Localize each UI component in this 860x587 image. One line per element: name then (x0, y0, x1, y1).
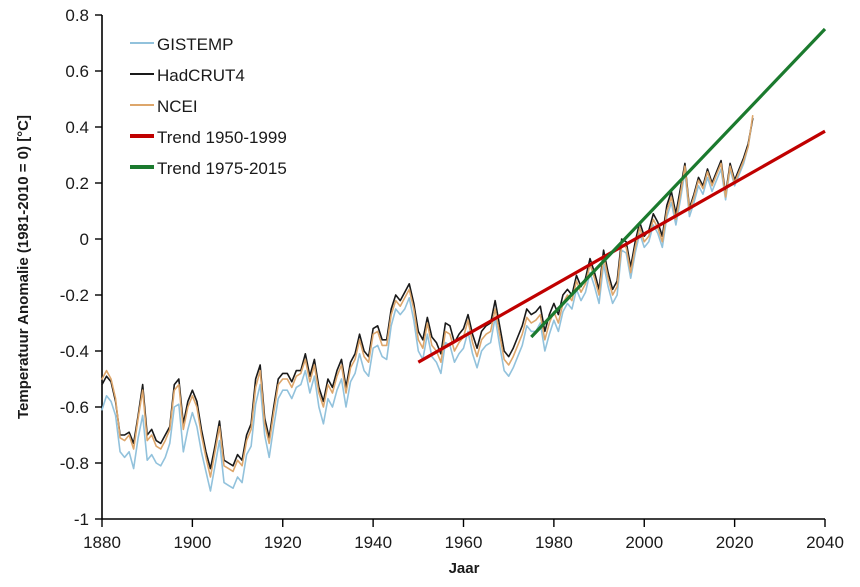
chart-background (0, 0, 860, 587)
x-axis-title: Jaar (449, 560, 480, 577)
x-tick-label: 1960 (445, 533, 483, 552)
y-tick-label: -0.4 (60, 342, 89, 361)
chart-container: 0.80.60.40.20-0.2-0.4-0.6-0.8-1 18801900… (0, 0, 860, 587)
y-tick-label: 0 (80, 230, 89, 249)
x-tick-label: 1920 (264, 533, 302, 552)
y-tick-label: 0.2 (65, 174, 89, 193)
x-tick-label: 1900 (173, 533, 211, 552)
temperature-anomaly-line-chart: 0.80.60.40.20-0.2-0.4-0.6-0.8-1 18801900… (0, 0, 860, 587)
legend-label: Trend 1950-1999 (157, 128, 287, 147)
y-tick-label: -1 (74, 510, 89, 529)
y-tick-label: 0.8 (65, 6, 89, 25)
legend-label: NCEI (157, 97, 198, 116)
legend-label: HadCRUT4 (157, 66, 245, 85)
y-tick-label: -0.2 (60, 286, 89, 305)
legend-label: GISTEMP (157, 35, 234, 54)
x-tick-label: 1880 (83, 533, 121, 552)
x-tick-label: 1940 (354, 533, 392, 552)
x-tick-label: 2020 (716, 533, 754, 552)
legend-label: Trend 1975-2015 (157, 159, 287, 178)
y-axis-title: Temperatuur Anomalie (1981-2010 = 0) [°C… (15, 115, 32, 419)
x-tick-label: 1980 (535, 533, 573, 552)
x-tick-label: 2040 (806, 533, 844, 552)
y-tick-label: -0.6 (60, 398, 89, 417)
y-tick-label: 0.4 (65, 118, 89, 137)
x-tick-label: 2000 (625, 533, 663, 552)
y-tick-label: 0.6 (65, 62, 89, 81)
y-tick-label: -0.8 (60, 454, 89, 473)
